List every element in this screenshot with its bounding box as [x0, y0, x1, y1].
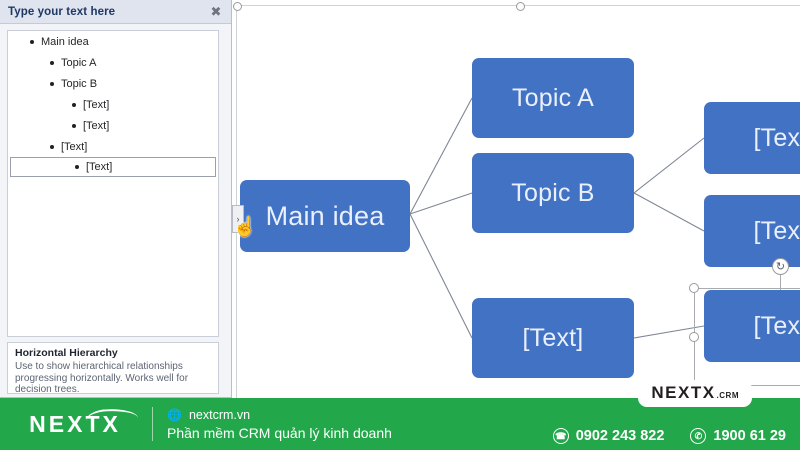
layout-description-title: Horizontal Hierarchy: [15, 347, 211, 359]
smartart-text-pane: Type your text here ✖ Main ideaTopic ATo…: [0, 0, 232, 398]
diagram-node-label: [Text]: [754, 217, 800, 246]
bullet-icon: [30, 40, 34, 44]
headset-icon: ✆: [690, 428, 706, 444]
rotate-handle-stem: [780, 274, 781, 290]
globe-icon: 🌐: [167, 408, 182, 422]
text-pane-item[interactable]: Main idea: [8, 31, 218, 52]
diagram-node-topic-a[interactable]: Topic A: [472, 58, 634, 138]
footer-divider: [152, 407, 153, 441]
bullet-icon: [75, 165, 79, 169]
diagram-node-main[interactable]: Main idea: [240, 180, 410, 252]
text-pane-header: Type your text here ✖: [0, 0, 231, 24]
bullet-icon: [50, 61, 54, 65]
selection-box: [694, 288, 800, 386]
footer-bar: NEXTX 🌐 nextcrm.vn Phần mềm CRM quản lý …: [0, 398, 800, 450]
text-pane-item[interactable]: [Text]: [8, 115, 218, 136]
text-pane-item-label: Topic A: [61, 57, 96, 69]
diagram-node-label: Topic B: [511, 179, 594, 208]
rotate-handle-icon[interactable]: ↻: [772, 258, 789, 275]
bullet-icon: [72, 124, 76, 128]
smartart-diagram[interactable]: Main ideaTopic ATopic B[Text][Text][Text…: [232, 0, 800, 398]
nextx-crm-badge: NEXTX .CRM: [638, 380, 752, 407]
text-pane-item-label: [Text]: [86, 161, 112, 173]
bullet-icon: [72, 103, 76, 107]
diagram-node-text-2[interactable]: [Text]: [704, 195, 800, 267]
footer-phone-group: ☎ 0902 243 822 ✆ 1900 61 29: [553, 428, 786, 444]
bullet-icon: [50, 145, 54, 149]
text-pane-list[interactable]: Main ideaTopic ATopic B[Text][Text][Text…: [7, 30, 219, 337]
text-pane-item[interactable]: [Text]: [8, 136, 218, 157]
layout-description-body: Use to show hierarchical relationships p…: [15, 361, 211, 396]
text-pane-item[interactable]: Topic B: [8, 73, 218, 94]
bullet-icon: [50, 82, 54, 86]
text-pane-item[interactable]: [Text]: [8, 94, 218, 115]
diagram-node-label: Main idea: [266, 201, 385, 232]
text-pane-item-label: [Text]: [61, 141, 87, 153]
footer-site-block: 🌐 nextcrm.vn Phần mềm CRM quản lý kinh d…: [167, 408, 392, 441]
footer-website: nextcrm.vn: [189, 408, 250, 422]
diagram-node-text-3[interactable]: [Text]: [472, 298, 634, 378]
footer-website-line[interactable]: 🌐 nextcrm.vn: [167, 408, 392, 422]
phone-number-mobile: 0902 243 822: [576, 428, 665, 444]
diagram-node-topic-b[interactable]: Topic B: [472, 153, 634, 233]
phone-item-hotline[interactable]: ✆ 1900 61 29: [690, 428, 786, 444]
phone-icon: ☎: [553, 428, 569, 444]
selection-outline: [694, 288, 800, 386]
footer-tagline: Phần mềm CRM quản lý kinh doanh: [167, 425, 392, 441]
text-pane-item-label: Topic B: [61, 78, 97, 90]
app-root: Type your text here ✖ Main ideaTopic ATo…: [0, 0, 800, 450]
diagram-node-text-1[interactable]: [Text]: [704, 102, 800, 174]
hand-cursor-icon: ☝: [233, 218, 257, 237]
badge-name: NEXTX: [651, 383, 715, 403]
text-pane-item-label: [Text]: [83, 120, 109, 132]
selection-handle-top-left[interactable]: [689, 283, 699, 293]
diagram-node-label: [Text]: [523, 324, 584, 353]
slide-canvas[interactable]: Main ideaTopic ATopic B[Text][Text][Text…: [232, 0, 800, 398]
nextx-logo: NEXTX: [0, 398, 150, 450]
text-pane-title: Type your text here: [0, 6, 115, 18]
layout-description-panel: Horizontal Hierarchy Use to show hierarc…: [7, 342, 219, 394]
text-pane-item[interactable]: Topic A: [8, 52, 218, 73]
diagram-node-label: [Text]: [754, 124, 800, 153]
diagram-node-label: Topic A: [512, 84, 594, 113]
phone-number-hotline: 1900 61 29: [713, 428, 786, 444]
text-pane-item-label: Main idea: [41, 36, 89, 48]
badge-suffix: .CRM: [717, 391, 739, 400]
close-icon[interactable]: ✖: [207, 3, 225, 21]
text-pane-item-selected[interactable]: [Text]: [10, 157, 216, 177]
selection-handle-middle-left[interactable]: [689, 332, 699, 342]
text-pane-item-label: [Text]: [83, 99, 109, 111]
phone-item-mobile[interactable]: ☎ 0902 243 822: [553, 428, 665, 444]
